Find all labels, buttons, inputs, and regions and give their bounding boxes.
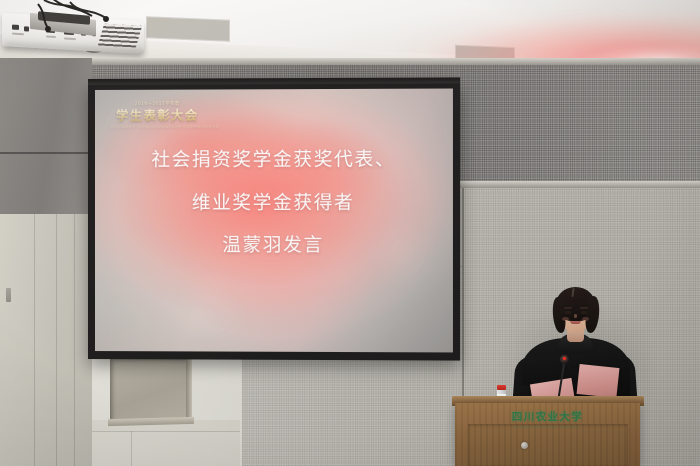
pillar-groove: [74, 214, 75, 466]
speaker-brow-left: [564, 307, 572, 309]
speaker-mouth: [570, 321, 581, 324]
speaker-cheek-right: [582, 317, 589, 321]
projector-label: [64, 37, 76, 40]
screen-glare: [95, 89, 285, 353]
wall-rail-top: [88, 58, 700, 65]
auditorium-scene: 2016—2017学年度 学生表彰大会 STUDENT COMMENDATION…: [0, 0, 700, 466]
water-bottle-cap: [497, 385, 506, 390]
podium-front-panel: [468, 424, 628, 466]
wall-niche: [110, 358, 190, 423]
podium-emblem: 四川农业大学 SICHUAN AGRICULTURAL UNIVERSITY: [455, 412, 640, 429]
speaker-brow-right: [580, 307, 588, 309]
projection-screen: 2016—2017学年度 学生表彰大会 STUDENT COMMENDATION…: [95, 89, 453, 353]
speaker-nose: [574, 314, 577, 318]
podium-institution-name: 四川农业大学: [455, 412, 640, 423]
podium-knob-icon[interactable]: [521, 442, 528, 449]
projector-label: [46, 35, 56, 38]
microphone-led-indicator: [563, 357, 566, 360]
wall-panel-seam: [92, 431, 240, 432]
left-pillar-upper: [0, 58, 92, 214]
wall-switch-icon[interactable]: [6, 288, 11, 302]
wall-slab-lower: [92, 420, 240, 466]
pillar-groove: [56, 214, 57, 466]
speaker-papers-secondary: [577, 364, 620, 398]
projection-screen-frame: 2016—2017学年度 学生表彰大会 STUDENT COMMENDATION…: [88, 82, 460, 360]
left-pillar-seam: [0, 152, 92, 154]
projector-cables-icon: [18, 0, 168, 32]
speaker-eye-right: [581, 311, 587, 314]
speaker-person: [510, 282, 640, 407]
wall-niche-edge: [186, 358, 192, 422]
speaker-hair-right: [584, 296, 600, 334]
speaker-eye-left: [565, 311, 571, 314]
speaker-cheek-left: [562, 317, 569, 321]
pillar-groove: [34, 214, 35, 466]
podium-institution-subtitle: SICHUAN AGRICULTURAL UNIVERSITY: [455, 425, 640, 429]
wall-panel-seam: [131, 431, 132, 466]
left-pillar-lower: [0, 214, 92, 466]
projector-label: [12, 33, 24, 36]
